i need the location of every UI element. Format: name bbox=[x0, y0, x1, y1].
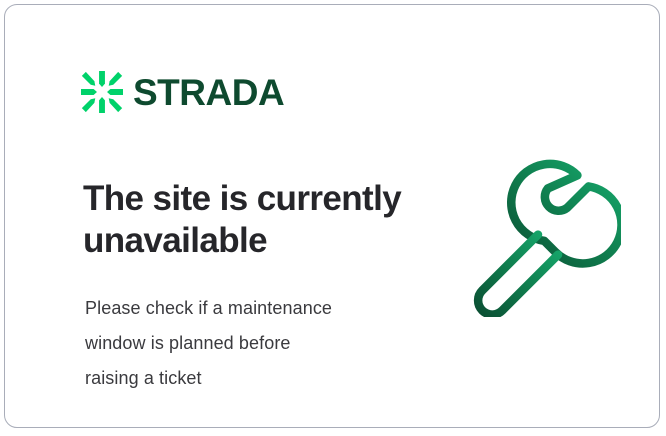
page-description-line-3: raising a ticket bbox=[85, 361, 415, 396]
wrench-icon bbox=[457, 153, 621, 317]
error-page: STRADA The site is currently unavailable… bbox=[0, 0, 666, 436]
page-title-line-1: The site is currently bbox=[83, 178, 423, 219]
strada-asterisk-icon bbox=[81, 71, 123, 113]
brand-logo: STRADA bbox=[81, 71, 284, 113]
maintenance-card: STRADA The site is currently unavailable… bbox=[4, 4, 660, 428]
brand-wordmark: STRADA bbox=[133, 74, 284, 111]
page-description: Please check if a maintenance window is … bbox=[85, 291, 415, 396]
page-title-line-2: unavailable bbox=[83, 220, 423, 261]
page-title: The site is currently unavailable bbox=[83, 178, 423, 261]
page-description-line-2: window is planned before bbox=[85, 326, 415, 361]
page-description-line-1: Please check if a maintenance bbox=[85, 291, 415, 326]
wrench-illustration bbox=[457, 153, 621, 317]
